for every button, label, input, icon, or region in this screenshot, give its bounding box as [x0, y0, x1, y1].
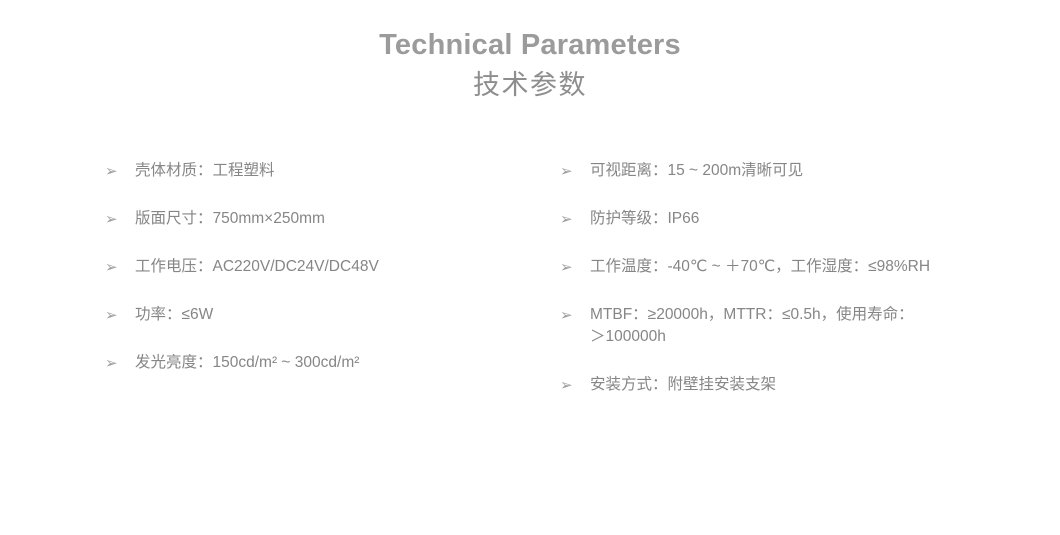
list-item: ➢ 可视距离：15 ~ 200m清晰可见 [560, 160, 1030, 182]
arrow-bullet-icon: ➢ [105, 160, 127, 182]
list-item: ➢ 安装方式：附壁挂安装支架 [560, 374, 1030, 396]
list-item: ➢ MTBF：≥20000h，MTTR：≤0.5h，使用寿命： ＞100000h [560, 304, 1030, 348]
list-item: ➢ 版面尺寸：750mm×250mm [105, 208, 535, 230]
page-title-english: Technical Parameters [0, 26, 1060, 64]
arrow-bullet-icon: ➢ [560, 160, 582, 182]
spec-text: 可视距离：15 ~ 200m清晰可见 [590, 160, 1030, 182]
spec-text: 发光亮度：150cd/m² ~ 300cd/m² [135, 352, 535, 374]
page-title-chinese: 技术参数 [0, 67, 1060, 103]
technical-parameters-page: Technical Parameters 技术参数 ➢ 壳体材质：工程塑料 ➢ … [0, 0, 1060, 535]
arrow-bullet-icon: ➢ [105, 304, 127, 326]
list-item: ➢ 功率：≤6W [105, 304, 535, 326]
arrow-bullet-icon: ➢ [560, 256, 582, 278]
list-item: ➢ 发光亮度：150cd/m² ~ 300cd/m² [105, 352, 535, 374]
spec-text: 工作温度：-40℃ ~ ＋70℃，工作湿度：≤98%RH [590, 256, 1030, 278]
arrow-bullet-icon: ➢ [560, 374, 582, 396]
spec-text: 功率：≤6W [135, 304, 535, 326]
spec-text: MTBF：≥20000h，MTTR：≤0.5h，使用寿命： [590, 304, 1030, 326]
arrow-bullet-icon: ➢ [105, 256, 127, 278]
page-header: Technical Parameters 技术参数 [0, 26, 1060, 103]
list-item: ➢ 工作电压：AC220V/DC24V/DC48V [105, 256, 535, 278]
arrow-bullet-icon: ➢ [105, 208, 127, 230]
list-item: ➢ 壳体材质：工程塑料 [105, 160, 535, 182]
spec-text: 版面尺寸：750mm×250mm [135, 208, 535, 230]
list-item: ➢ 工作温度：-40℃ ~ ＋70℃，工作湿度：≤98%RH [560, 256, 1030, 278]
spec-list-left: ➢ 壳体材质：工程塑料 ➢ 版面尺寸：750mm×250mm ➢ 工作电压：AC… [105, 160, 535, 400]
spec-text-continuation: ＞100000h [590, 328, 666, 345]
spec-columns: ➢ 壳体材质：工程塑料 ➢ 版面尺寸：750mm×250mm ➢ 工作电压：AC… [0, 160, 1060, 430]
list-item: ➢ 防护等级：IP66 [560, 208, 1030, 230]
spec-text: 工作电压：AC220V/DC24V/DC48V [135, 256, 535, 278]
spec-list-right: ➢ 可视距离：15 ~ 200m清晰可见 ➢ 防护等级：IP66 ➢ 工作温度：… [560, 160, 1030, 422]
arrow-bullet-icon: ➢ [105, 352, 127, 374]
arrow-bullet-icon: ➢ [560, 304, 582, 326]
spec-text: 壳体材质：工程塑料 [135, 160, 535, 182]
arrow-bullet-icon: ➢ [560, 208, 582, 230]
spec-text: 安装方式：附壁挂安装支架 [590, 374, 1030, 396]
spec-text: 防护等级：IP66 [590, 208, 1030, 230]
